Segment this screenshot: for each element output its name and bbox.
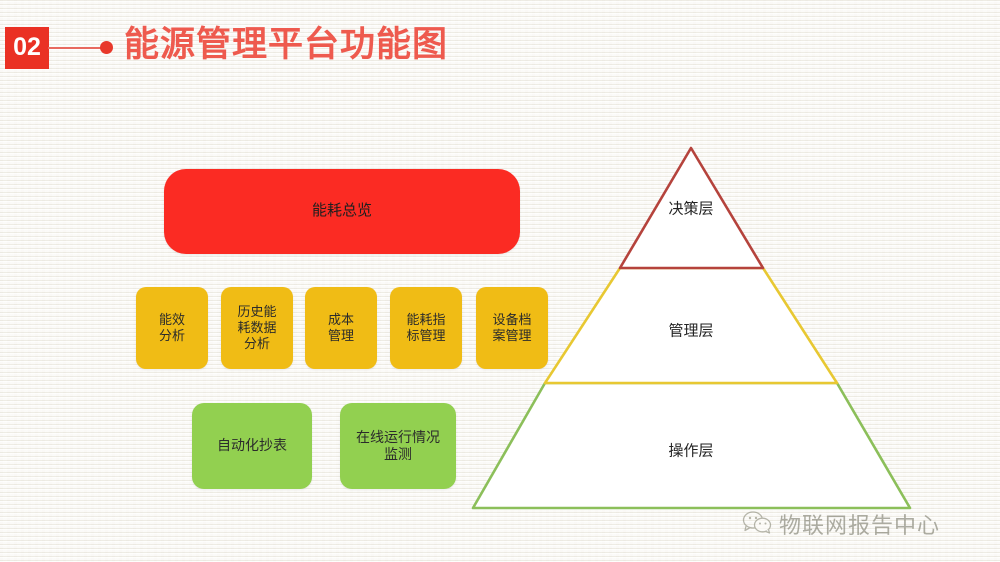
card-online-operation-monitoring[interactable]: 在线运行情况 监测 (340, 403, 456, 489)
card-label: 历史能 耗数据 分析 (237, 304, 276, 352)
card-automatic-meter-reading[interactable]: 自动化抄表 (192, 403, 312, 489)
card-label: 自动化抄表 (217, 437, 287, 454)
header-connector-line (48, 47, 104, 49)
page-title: 能源管理平台功能图 (124, 23, 448, 67)
section-number: 02 (13, 35, 41, 61)
watermark: 物联网报告中心 (742, 508, 940, 540)
card-label: 能效 分析 (159, 312, 185, 344)
pyramid-layer-decision-label: 决策层 (668, 198, 713, 219)
card-label: 能耗指 标管理 (406, 312, 445, 344)
pyramid-layer-manage-label: 管理层 (668, 320, 713, 341)
card-energy-efficiency-analysis[interactable]: 能效 分析 (136, 287, 208, 369)
card-historical-energy-data-analysis[interactable]: 历史能 耗数据 分析 (221, 287, 293, 369)
card-energy-index-management[interactable]: 能耗指 标管理 (390, 287, 462, 369)
card-label: 成本 管理 (328, 312, 354, 344)
card-label: 能耗总览 (312, 202, 372, 220)
section-number-badge: 02 (5, 27, 49, 69)
card-label: 在线运行情况 监测 (356, 429, 440, 463)
slide-canvas: 02 能源管理平台功能图 能耗总览 能效 分析 历史能 耗数据 分析 成本 管理… (0, 0, 1000, 562)
header-connector-dot-icon (100, 41, 113, 54)
wechat-icon (742, 510, 772, 539)
pyramid-layer-operate-label: 操作层 (668, 440, 713, 461)
card-cost-management[interactable]: 成本 管理 (305, 287, 377, 369)
hierarchy-pyramid: 决策层 管理层 操作层 (455, 135, 930, 530)
watermark-text: 物联网报告中心 (779, 508, 940, 540)
